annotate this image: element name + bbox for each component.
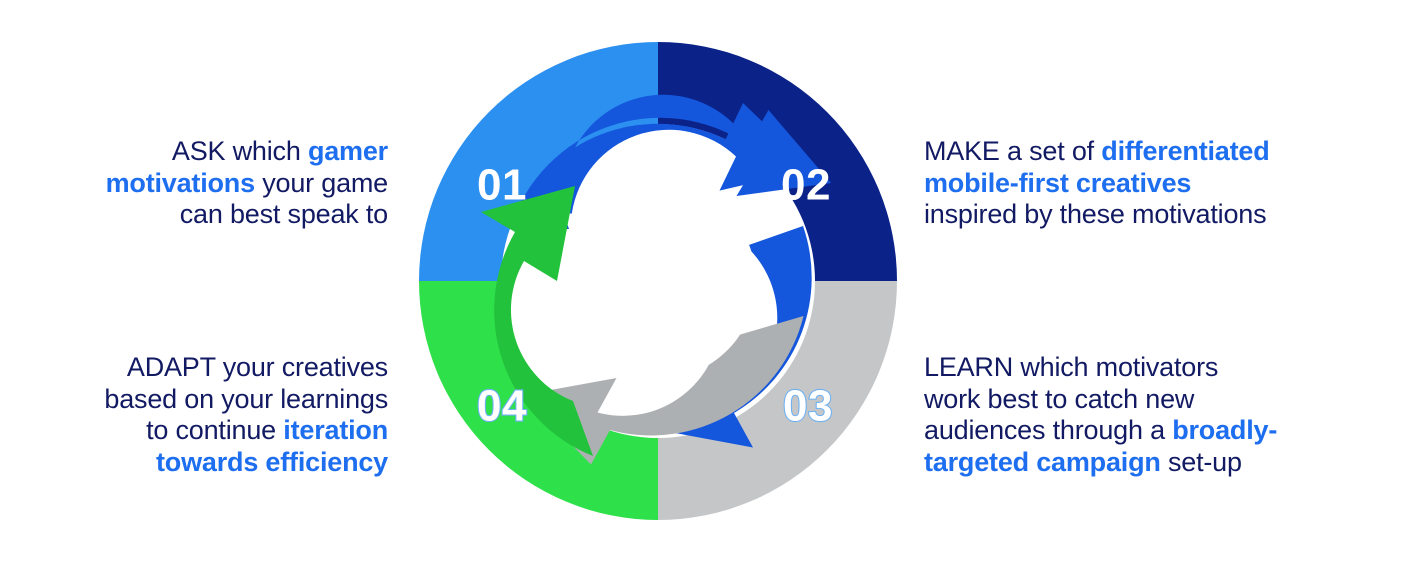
step-01-text: ASK which gamermotivations your gamecan … xyxy=(40,136,388,231)
text-line: audiences through a broadly- xyxy=(924,415,1324,447)
text-run: to continue xyxy=(146,415,283,445)
text-run: set-up xyxy=(1161,447,1242,477)
text-run: based on your learnings xyxy=(104,384,388,414)
segment-number-01: 01 xyxy=(477,161,527,210)
text-line: to continue iteration xyxy=(40,415,388,447)
text-line: towards efficiency xyxy=(40,447,388,479)
highlight-run: targeted campaign xyxy=(924,447,1161,477)
text-line: ASK which gamer xyxy=(40,136,388,168)
highlight-run: towards efficiency xyxy=(156,447,388,477)
highlight-run: motivations xyxy=(106,168,255,198)
segment-number-02: 02 xyxy=(781,161,831,210)
text-line: inspired by these motivations xyxy=(924,199,1324,231)
text-line: based on your learnings xyxy=(40,384,388,416)
text-run: audiences through a xyxy=(924,415,1172,445)
text-line: can best speak to xyxy=(40,199,388,231)
text-line: mobile-first creatives xyxy=(924,168,1324,200)
infographic-canvas: ASK which gamermotivations your gamecan … xyxy=(0,0,1422,572)
text-line: MAKE a set of differentiated xyxy=(924,136,1324,168)
cycle-wheel: 01 02 03 04 xyxy=(403,26,913,536)
highlight-run: mobile-first creatives xyxy=(924,168,1191,198)
text-line: motivations your game xyxy=(40,168,388,200)
text-run: ADAPT your creatives xyxy=(127,352,388,382)
wheel-hub xyxy=(560,183,756,379)
highlight-run: broadly- xyxy=(1172,415,1277,445)
step-03-text: LEARN which motivatorswork best to catch… xyxy=(924,352,1324,478)
text-run: your game xyxy=(255,168,388,198)
text-line: work best to catch new xyxy=(924,384,1324,416)
text-run: work best to catch new xyxy=(924,384,1194,414)
text-line: ADAPT your creatives xyxy=(40,352,388,384)
text-run: ASK which xyxy=(172,136,308,166)
highlight-run: gamer xyxy=(308,136,388,166)
text-line: targeted campaign set-up xyxy=(924,447,1324,479)
text-run: LEARN which motivators xyxy=(924,352,1218,382)
segment-number-03: 03 xyxy=(783,382,833,431)
text-run: can best speak to xyxy=(180,199,388,229)
text-run: inspired by these motivations xyxy=(924,199,1266,229)
highlight-run: iteration xyxy=(283,415,388,445)
segment-number-04: 04 xyxy=(477,382,527,431)
highlight-run: differentiated xyxy=(1101,136,1269,166)
text-run: MAKE a set of xyxy=(924,136,1101,166)
step-02-text: MAKE a set of differentiatedmobile-first… xyxy=(924,136,1324,231)
text-line: LEARN which motivators xyxy=(924,352,1324,384)
step-04-text: ADAPT your creativesbased on your learni… xyxy=(40,352,388,478)
